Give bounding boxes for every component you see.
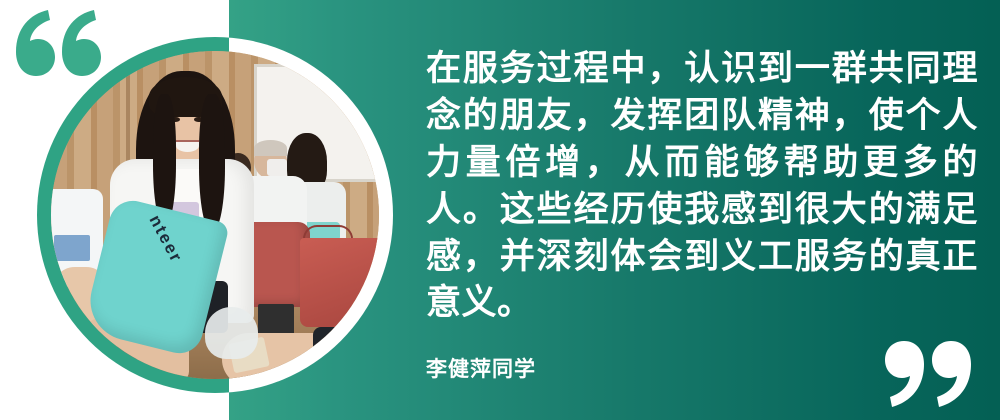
background-person-mask — [267, 159, 287, 175]
quote-block: 在服务过程中，认识到一群共同理念的朋友，发挥团队精神，使个人力量倍增，从而能够帮… — [426, 46, 978, 383]
volunteer-hair — [199, 94, 225, 232]
photo-clip: nteer — [51, 51, 379, 379]
quote-text: 在服务过程中，认识到一群共同理念的朋友，发挥团队精神，使个人力量倍增，从而能够帮… — [426, 46, 978, 327]
whiteboard-mark — [347, 79, 368, 84]
photo-scene: nteer — [51, 51, 379, 379]
volunteer-smile — [176, 140, 199, 152]
photo-image: nteer — [51, 51, 379, 379]
background-person-hair — [254, 140, 287, 156]
scene-bag — [300, 238, 379, 327]
volunteer-glove — [205, 307, 257, 359]
client-shirt-logo — [54, 235, 90, 261]
client-sock — [313, 327, 352, 363]
testimonial-banner: nteer 在服务过程中，认识到一群共同理念的朋友，发挥团队精神，使个人力量倍增… — [0, 0, 1000, 420]
testimonial-photo: nteer — [37, 37, 393, 393]
quote-open-icon — [8, 8, 108, 88]
whiteboard-mark — [355, 92, 379, 94]
quote-close-icon — [872, 334, 982, 412]
